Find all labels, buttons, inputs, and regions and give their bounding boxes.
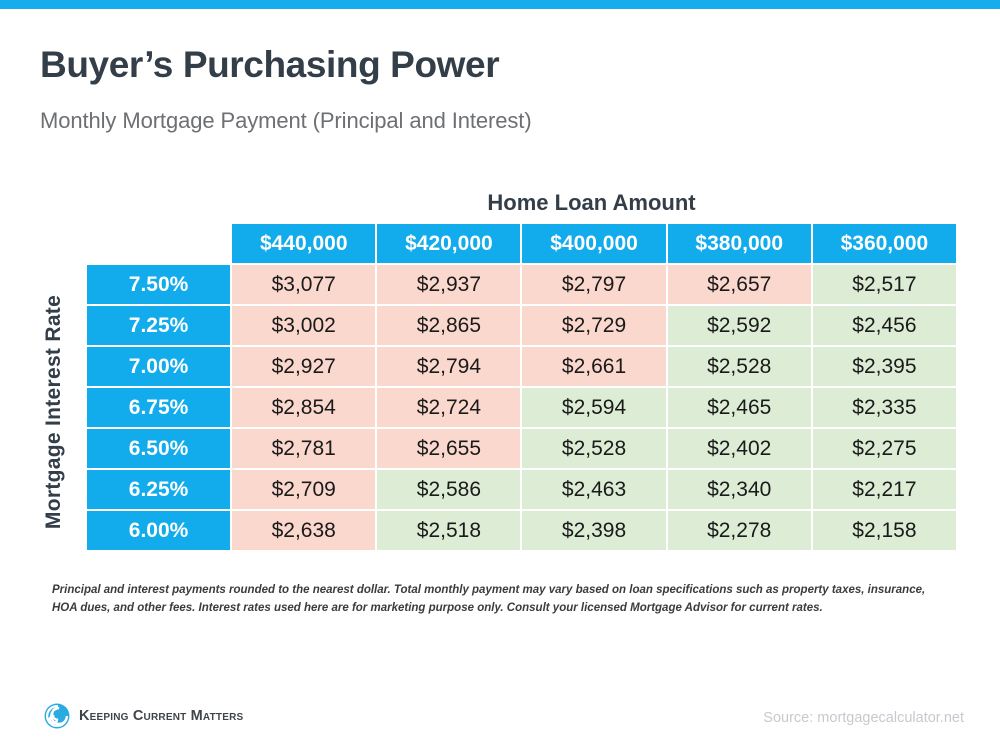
payment-cell: $2,335 xyxy=(813,388,956,427)
payment-cell: $2,724 xyxy=(377,388,520,427)
row-rate-label: 7.25% xyxy=(87,306,230,345)
payment-cell: $2,594 xyxy=(522,388,665,427)
column-group-title: Home Loan Amount xyxy=(225,190,958,216)
page-subtitle: Monthly Mortgage Payment (Principal and … xyxy=(40,108,532,134)
column-header: $440,000 xyxy=(232,224,375,263)
payment-cell: $3,002 xyxy=(232,306,375,345)
table-row: 7.50% $3,077 $2,937 $2,797 $2,657 $2,517 xyxy=(87,265,956,304)
payment-cell: $2,592 xyxy=(668,306,811,345)
payment-cell: $2,794 xyxy=(377,347,520,386)
brand-logo-text: Keeping Current Matters xyxy=(79,708,243,724)
source-attribution: Source: mortgagecalculator.net xyxy=(763,710,964,726)
payment-cell: $2,927 xyxy=(232,347,375,386)
column-header: $360,000 xyxy=(813,224,956,263)
payment-cell: $2,854 xyxy=(232,388,375,427)
row-rate-label: 6.75% xyxy=(87,388,230,427)
payment-cell: $2,937 xyxy=(377,265,520,304)
row-rate-label: 7.50% xyxy=(87,265,230,304)
brand-logo: Keeping Current Matters xyxy=(44,703,243,729)
payment-cell: $2,528 xyxy=(522,429,665,468)
payment-cell: $2,340 xyxy=(668,470,811,509)
payment-cell: $2,865 xyxy=(377,306,520,345)
payment-cell: $2,395 xyxy=(813,347,956,386)
row-rate-label: 6.25% xyxy=(87,470,230,509)
table-row: 6.25% $2,709 $2,586 $2,463 $2,340 $2,217 xyxy=(87,470,956,509)
table-row: 7.00% $2,927 $2,794 $2,661 $2,528 $2,395 xyxy=(87,347,956,386)
payment-cell: $2,463 xyxy=(522,470,665,509)
payment-cell: $2,517 xyxy=(813,265,956,304)
payment-cell: $2,709 xyxy=(232,470,375,509)
payment-cell: $2,657 xyxy=(668,265,811,304)
row-rate-label: 6.50% xyxy=(87,429,230,468)
payment-cell: $2,661 xyxy=(522,347,665,386)
table-row: 7.25% $3,002 $2,865 $2,729 $2,592 $2,456 xyxy=(87,306,956,345)
table-row: 6.00% $2,638 $2,518 $2,398 $2,278 $2,158 xyxy=(87,511,956,550)
column-header: $400,000 xyxy=(522,224,665,263)
payment-cell: $2,217 xyxy=(813,470,956,509)
payment-cell: $2,275 xyxy=(813,429,956,468)
payment-cell: $2,402 xyxy=(668,429,811,468)
payment-cell: $2,638 xyxy=(232,511,375,550)
column-header: $420,000 xyxy=(377,224,520,263)
payment-cell: $2,456 xyxy=(813,306,956,345)
table-row: 6.50% $2,781 $2,655 $2,528 $2,402 $2,275 xyxy=(87,429,956,468)
page-title: Buyer’s Purchasing Power xyxy=(40,44,499,86)
payment-cell: $3,077 xyxy=(232,265,375,304)
row-rate-label: 7.00% xyxy=(87,347,230,386)
payment-cell: $2,528 xyxy=(668,347,811,386)
table-row: 6.75% $2,854 $2,724 $2,594 $2,465 $2,335 xyxy=(87,388,956,427)
payment-cell: $2,518 xyxy=(377,511,520,550)
payment-cell: $2,465 xyxy=(668,388,811,427)
payment-matrix-table: $440,000 $420,000 $400,000 $380,000 $360… xyxy=(85,222,958,552)
payment-cell: $2,797 xyxy=(522,265,665,304)
payment-cell: $2,781 xyxy=(232,429,375,468)
infographic-page: Buyer’s Purchasing Power Monthly Mortgag… xyxy=(0,0,1000,750)
payment-cell: $2,158 xyxy=(813,511,956,550)
table-body: 7.50% $3,077 $2,937 $2,797 $2,657 $2,517… xyxy=(87,265,956,550)
column-header: $380,000 xyxy=(668,224,811,263)
payment-cell: $2,278 xyxy=(668,511,811,550)
row-rate-label: 6.00% xyxy=(87,511,230,550)
payment-cell: $2,655 xyxy=(377,429,520,468)
top-accent-stripe xyxy=(0,0,1000,9)
disclaimer-footnote: Principal and interest payments rounded … xyxy=(52,582,952,618)
table-corner-cell xyxy=(87,224,230,263)
row-axis-title: Mortgage Interest Rate xyxy=(42,262,66,562)
payment-cell: $2,586 xyxy=(377,470,520,509)
payment-cell: $2,729 xyxy=(522,306,665,345)
kcm-swirl-icon xyxy=(44,703,70,729)
payment-cell: $2,398 xyxy=(522,511,665,550)
table-header-row: $440,000 $420,000 $400,000 $380,000 $360… xyxy=(87,224,956,263)
